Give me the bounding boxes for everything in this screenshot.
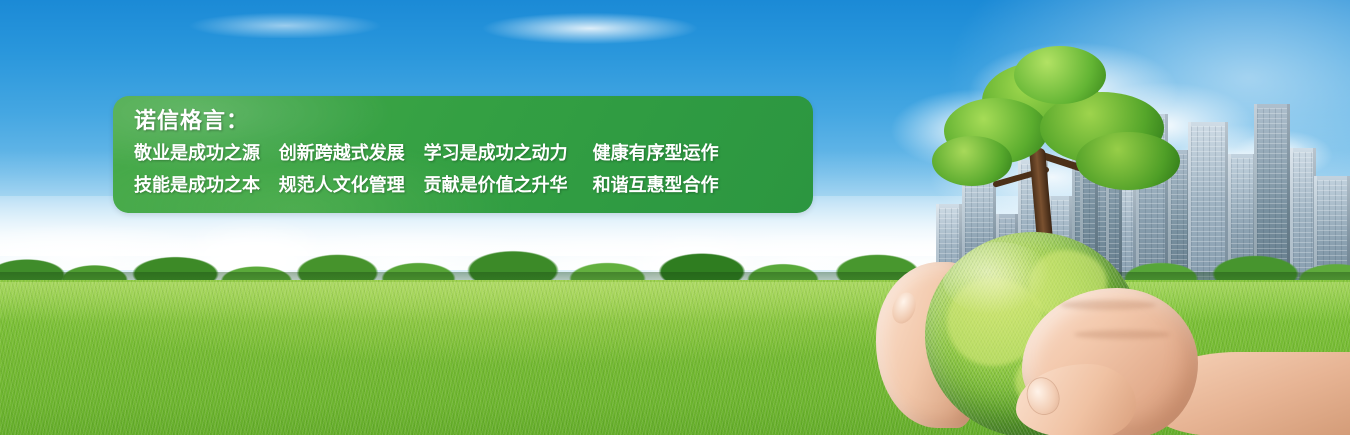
cloud-wisp-top [430, 0, 750, 44]
tree-canopy [1076, 132, 1180, 190]
tree-canopy [1014, 46, 1106, 104]
motto-panel-content: 诺信格言： 敬业是成功之源 创新跨越式发展 学习是成功之动力 健康有序型运作 技… [113, 96, 813, 195]
tree-canopy [932, 136, 1012, 186]
eco-banner: 诺信格言： 敬业是成功之源 创新跨越式发展 学习是成功之动力 健康有序型运作 技… [0, 0, 1350, 435]
motto-line-2: 技能是成功之本 规范人文化管理 贡献是价值之升华 和谐互惠型合作 [134, 177, 813, 195]
globe-highlight [943, 242, 1053, 316]
motto-panel-title: 诺信格言： [134, 111, 813, 133]
motto-panel: 诺信格言： 敬业是成功之源 创新跨越式发展 学习是成功之动力 健康有序型运作 技… [113, 96, 813, 213]
finger-crease [1060, 300, 1156, 310]
finger-crease [1074, 330, 1170, 339]
motto-line-1: 敬业是成功之源 创新跨越式发展 学习是成功之动力 健康有序型运作 [134, 145, 813, 163]
cloud-wisp-left [120, 0, 420, 38]
